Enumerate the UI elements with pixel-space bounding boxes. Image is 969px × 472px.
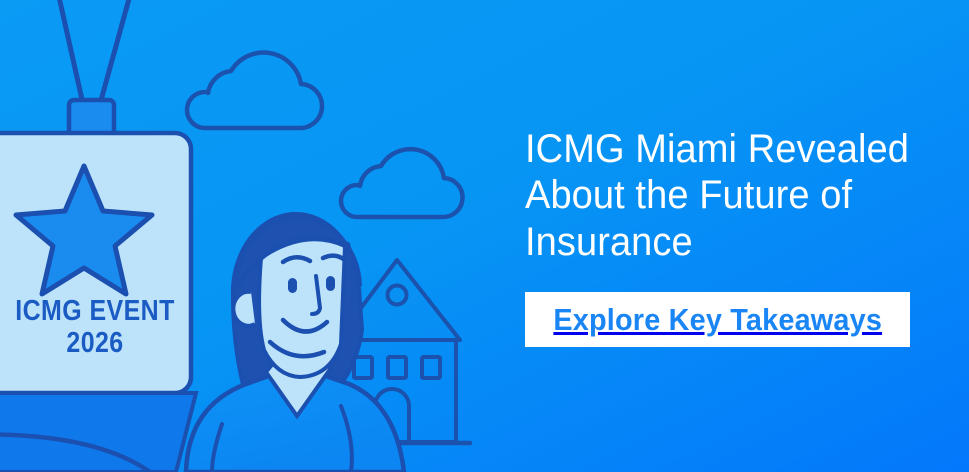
cta-button-label: Explore Key Takeaways	[553, 302, 882, 338]
headline: ICMG Miami Revealed About the Future of …	[525, 126, 924, 265]
promo-banner: ICMG EVENT 2026 ICMG Miami Revealed Abou…	[0, 0, 969, 472]
banner-content: ICMG Miami Revealed About the Future of …	[525, 126, 945, 265]
explore-key-takeaways-button[interactable]: Explore Key Takeaways	[525, 292, 910, 347]
